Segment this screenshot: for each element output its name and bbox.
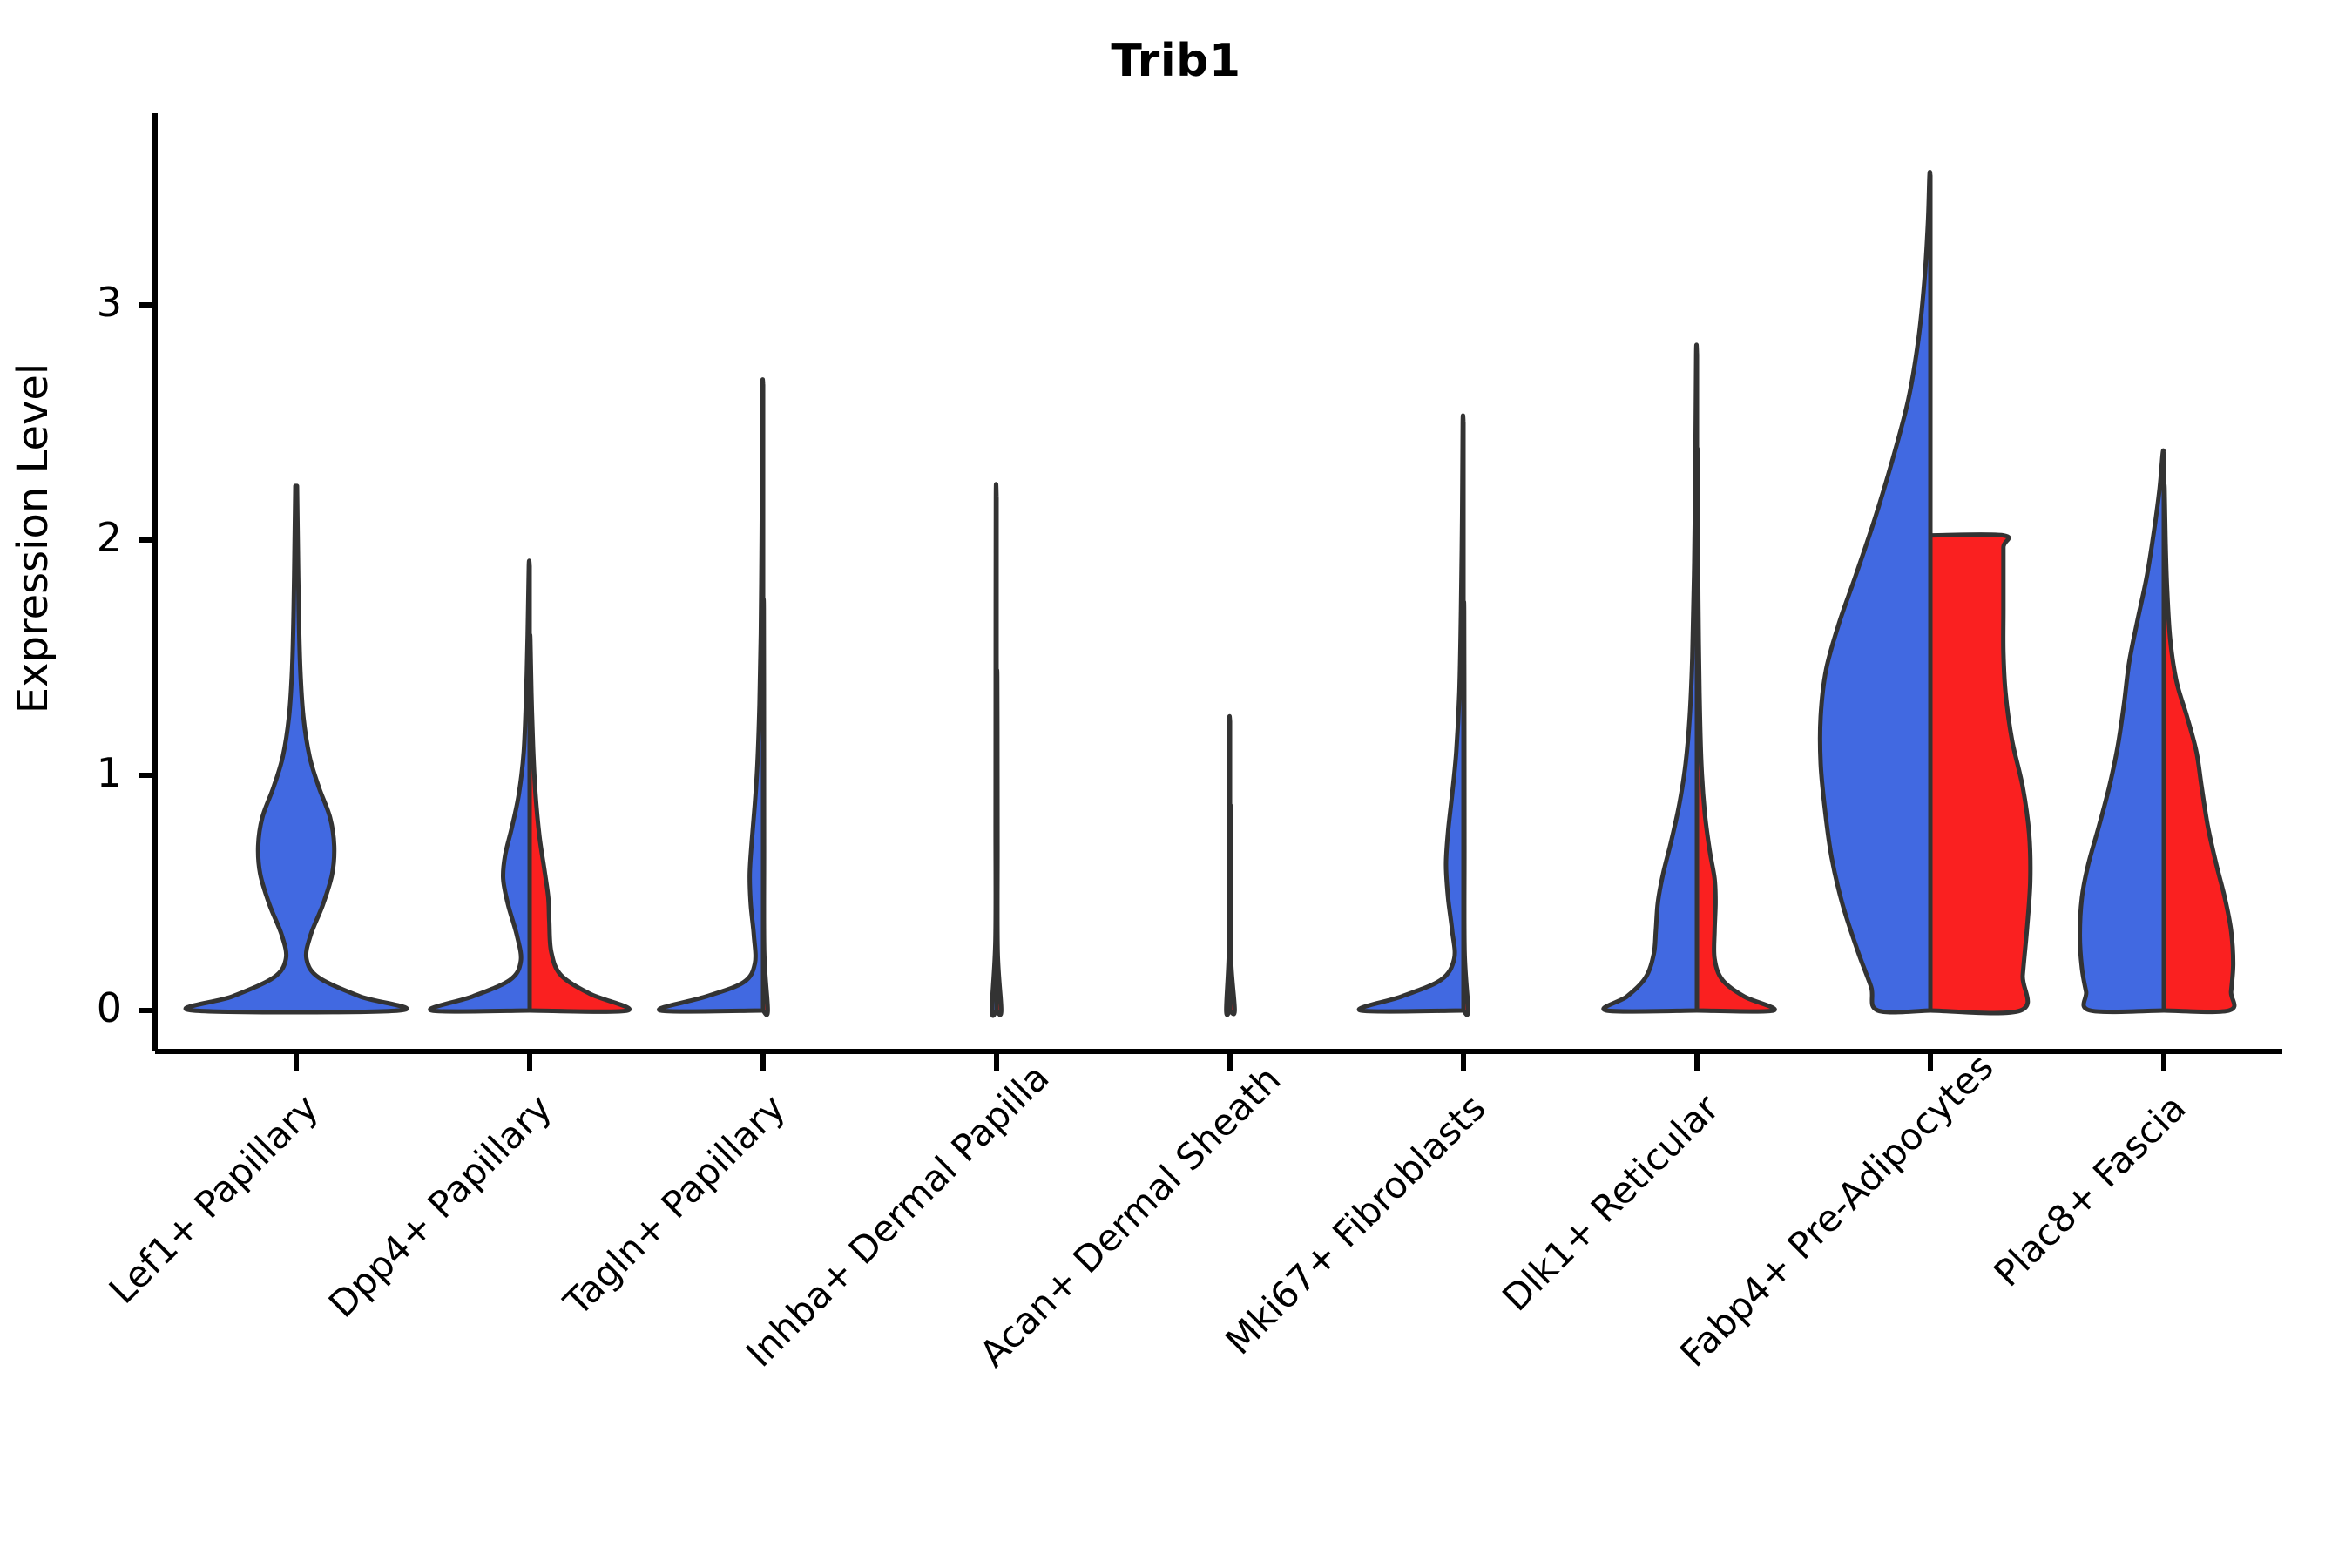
violin-blue-2[interactable] <box>659 380 763 1012</box>
violin-shape[interactable] <box>1463 602 1468 1015</box>
violin-shape[interactable] <box>763 599 767 1015</box>
violin-shape[interactable] <box>530 635 630 1012</box>
violin-red-7[interactable] <box>1930 535 2031 1013</box>
y-tick-label-2: 2 <box>59 514 122 561</box>
violin-red-5[interactable] <box>1463 602 1468 1015</box>
violin-blue-8[interactable] <box>2080 450 2164 1012</box>
violin-shape[interactable] <box>186 486 407 1012</box>
violin-blue-0[interactable] <box>186 486 407 1012</box>
violin-blue-6[interactable] <box>1604 345 1697 1011</box>
violin-red-8[interactable] <box>2164 484 2234 1011</box>
violin-red-1[interactable] <box>530 635 630 1012</box>
violin-shape[interactable] <box>1930 535 2031 1013</box>
violin-shape[interactable] <box>659 380 763 1012</box>
violin-plot-figure: Trib1 Expression Level 0123 Lef1+ Papill… <box>0 0 2352 1568</box>
violin-shape[interactable] <box>1230 805 1234 1014</box>
violin-shape[interactable] <box>430 561 530 1011</box>
violin-blue-1[interactable] <box>430 561 530 1011</box>
violin-red-2[interactable] <box>763 599 767 1015</box>
violin-shape[interactable] <box>1359 416 1463 1011</box>
y-tick-label-1: 1 <box>59 749 122 796</box>
violin-shape[interactable] <box>1697 449 1774 1011</box>
violin-blue-5[interactable] <box>1359 416 1463 1011</box>
violin-red-3[interactable] <box>997 670 1001 1015</box>
violin-shape[interactable] <box>997 670 1001 1015</box>
violins-layer <box>186 172 2234 1017</box>
y-tick-label-0: 0 <box>59 984 122 1031</box>
violin-red-4[interactable] <box>1230 805 1234 1014</box>
violin-shape[interactable] <box>1820 172 1930 1013</box>
violin-shape[interactable] <box>2164 484 2234 1011</box>
y-tick-label-3: 3 <box>59 279 122 326</box>
violin-shape[interactable] <box>1604 345 1697 1011</box>
violin-red-6[interactable] <box>1697 449 1774 1011</box>
violin-blue-7[interactable] <box>1820 172 1930 1013</box>
violin-shape[interactable] <box>2080 450 2164 1012</box>
plot-canvas <box>0 0 2352 1568</box>
